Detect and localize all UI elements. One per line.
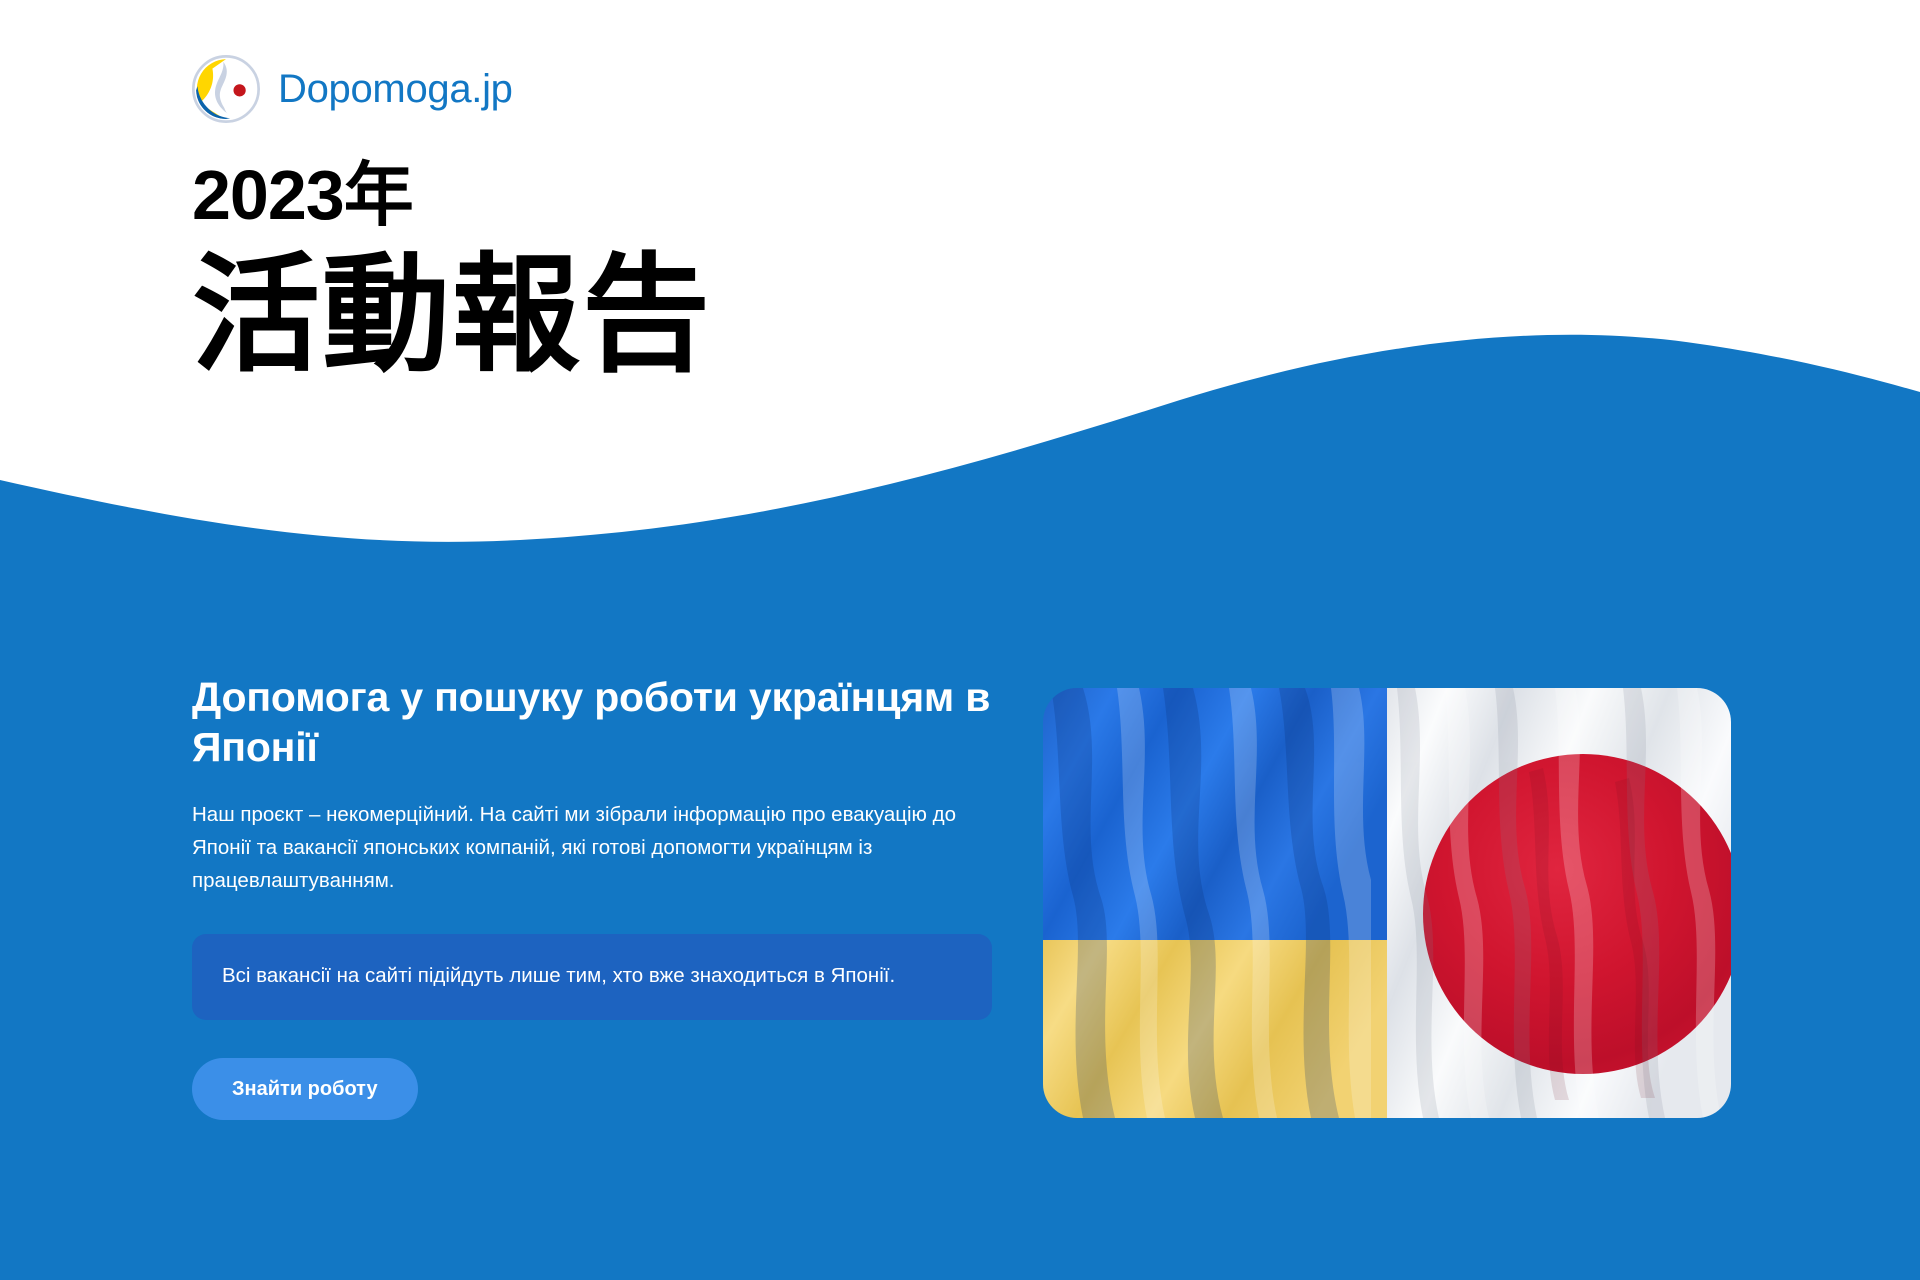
find-job-button[interactable]: Знайти роботу: [192, 1058, 418, 1120]
hero-content: Допомога у пошуку роботи українцям в Япо…: [192, 672, 992, 1120]
title-year-text: 2023年: [192, 160, 712, 230]
flags-graphic-icon: [1043, 688, 1731, 1118]
brand-logo[interactable]: Dopomoga.jp: [192, 55, 513, 123]
poster-canvas: Dopomoga.jp 2023年 活動報告 Допомога у пошуку…: [0, 0, 1920, 1280]
ukraine-flag-half: [1043, 688, 1388, 1118]
dopomoga-circle-logo-icon: [192, 55, 260, 123]
page-title: 2023年 活動報告: [192, 160, 712, 380]
hero-heading: Допомога у пошуку роботи українцям в Япо…: [192, 672, 992, 772]
hero-description: Наш проєкт – некомерційний. На сайті ми …: [192, 798, 982, 898]
title-main-text: 活動報告: [192, 252, 712, 380]
japan-flag-half: [1387, 688, 1731, 1118]
hero-callout-text: Всі вакансії на сайті підійдуть лише тим…: [222, 960, 962, 992]
ukraine-japan-flags-image: [1043, 688, 1731, 1118]
hero-callout-box: Всі вакансії на сайті підійдуть лише тим…: [192, 934, 992, 1020]
brand-name-text: Dopomoga.jp: [278, 67, 513, 112]
